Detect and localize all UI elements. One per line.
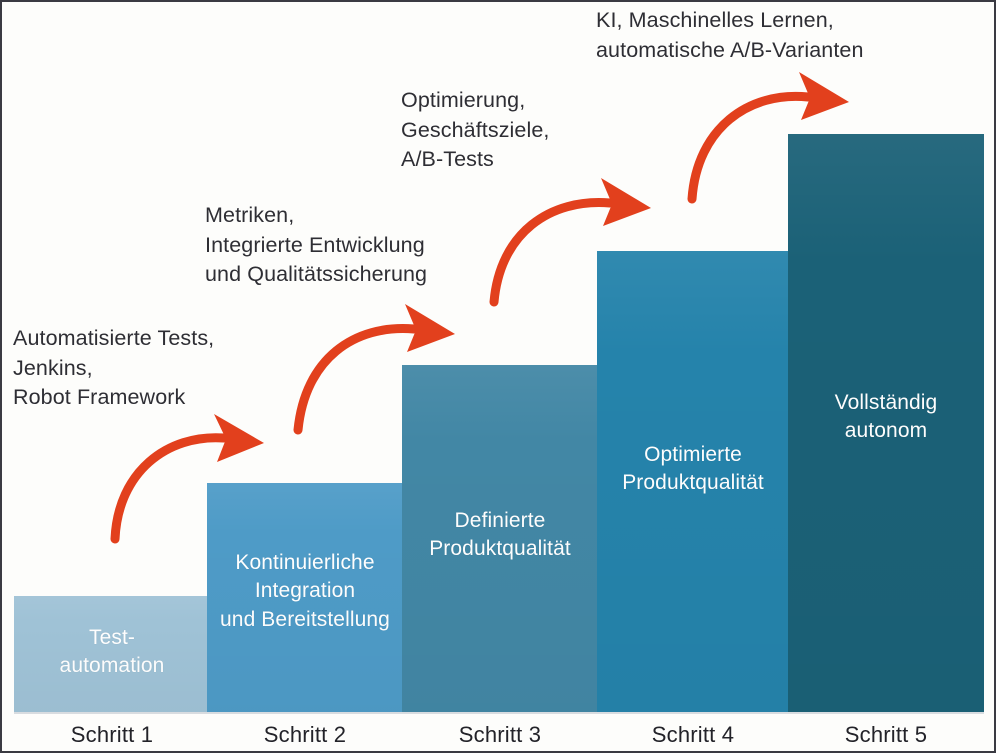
annotation-step3: Optimierung, Geschäftsziele, A/B-Tests: [401, 86, 549, 175]
bar-label-schritt-4: Optimierte Produktqualität: [597, 441, 789, 498]
bar-schritt-2: Kontinuierliche Integration und Bereitst…: [207, 483, 403, 712]
bar-schritt-5: Vollständig autonom: [788, 134, 984, 712]
bar-schritt-1: Test- automation: [14, 596, 210, 712]
bar-label-schritt-5: Vollständig autonom: [788, 389, 984, 446]
x-axis-tick-schritt-4: Schritt 4: [595, 722, 791, 748]
x-axis-tick-schritt-3: Schritt 3: [402, 722, 598, 748]
annotation-step4: KI, Maschinelles Lernen, automatische A/…: [596, 6, 864, 65]
maturity-staircase-figure: Test- automation Kontinuierliche Integra…: [0, 0, 996, 753]
x-axis-tick-schritt-2: Schritt 2: [207, 722, 403, 748]
x-axis-tick-schritt-5: Schritt 5: [788, 722, 984, 748]
x-axis-line: [14, 712, 984, 714]
bar-label-schritt-1: Test- automation: [14, 624, 210, 681]
bar-schritt-4: Optimierte Produktqualität: [597, 251, 789, 712]
chart-plot-area: Test- automation Kontinuierliche Integra…: [2, 2, 996, 753]
bar-label-schritt-3: Definierte Produktqualität: [402, 507, 598, 564]
bar-label-schritt-2: Kontinuierliche Integration und Bereitst…: [207, 549, 403, 634]
x-axis-tick-schritt-1: Schritt 1: [14, 722, 210, 748]
bar-schritt-3: Definierte Produktqualität: [402, 365, 598, 712]
annotation-step2: Metriken, Integrierte Entwicklung und Qu…: [205, 201, 427, 290]
annotation-step1: Automatisierte Tests, Jenkins, Robot Fra…: [13, 324, 214, 413]
